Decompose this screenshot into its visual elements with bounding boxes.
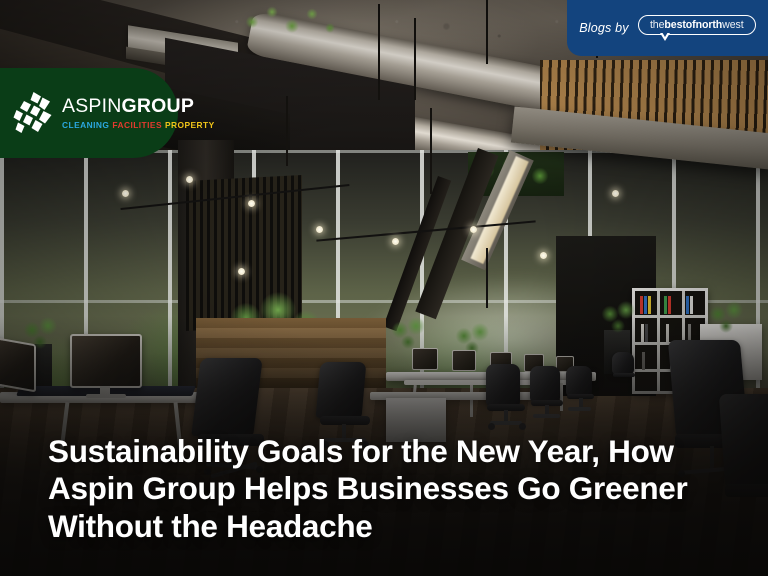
light-track xyxy=(486,248,488,308)
chair-back xyxy=(316,362,367,418)
blog-hero-card: ASPINGROUP CLEANINGFACILITIESPROPERTY Bl… xyxy=(0,0,768,576)
binder xyxy=(645,324,648,342)
hanger-rod xyxy=(286,96,288,166)
binder xyxy=(641,324,644,342)
chair-caster xyxy=(519,423,526,430)
office-chair xyxy=(566,366,598,422)
binder xyxy=(648,296,651,314)
binder xyxy=(640,296,643,314)
tagline-property: PROPERTY xyxy=(165,120,215,130)
binder xyxy=(644,296,647,314)
potted-plant xyxy=(388,316,428,350)
monitor xyxy=(0,336,36,393)
logo-word-west: west xyxy=(722,19,743,31)
hanger-rod xyxy=(486,0,488,64)
hanger-rod xyxy=(430,108,432,194)
potted-plant xyxy=(706,300,746,334)
thebestofnorthwest-text: thebestofnorthwest xyxy=(650,19,744,31)
office-chair xyxy=(486,364,530,438)
hanging-vine xyxy=(236,2,346,48)
aspin-group-logo-badge[interactable]: ASPINGROUP CLEANINGFACILITIESPROPERTY xyxy=(0,68,178,158)
binder xyxy=(686,296,689,314)
monitor xyxy=(452,350,476,371)
monitor xyxy=(70,334,142,388)
pendant-bulb xyxy=(540,252,547,259)
chair-seat xyxy=(613,373,635,377)
binder xyxy=(664,296,667,314)
office-chair xyxy=(722,394,768,544)
brand-wordmark: ASPINGROUP CLEANINGFACILITIESPROPERTY xyxy=(62,97,215,129)
brand-name: ASPINGROUP xyxy=(62,97,215,117)
brand-name-aspin: ASPIN xyxy=(62,95,122,117)
chair-seat xyxy=(725,484,768,497)
desk-leg xyxy=(470,385,473,417)
blogs-by-label: Blogs by xyxy=(579,21,629,35)
logo-word-the: the xyxy=(650,19,664,31)
aspin-shard-mark-icon xyxy=(12,91,54,135)
binder xyxy=(668,296,671,314)
chair-back xyxy=(530,366,560,402)
pendant-bulb xyxy=(316,226,323,233)
pendant-bulb xyxy=(238,268,245,275)
brand-name-group: GROUP xyxy=(122,95,195,117)
thebestofnorthwest-logo[interactable]: thebestofnorthwest xyxy=(638,15,756,41)
monitor xyxy=(412,348,438,370)
pendant-bulb xyxy=(122,190,129,197)
chair-back xyxy=(566,366,592,396)
speech-bubble-tail-inner xyxy=(662,32,668,37)
blogs-by-badge[interactable]: Blogs by thebestofnorthwest xyxy=(567,0,768,56)
chair-base xyxy=(568,407,591,411)
office-chair xyxy=(530,366,568,430)
monitor-base xyxy=(86,394,126,398)
chair-caster xyxy=(488,423,495,430)
pendant-bulb xyxy=(612,190,619,197)
tagline-facilities: FACILITIES xyxy=(112,120,162,130)
binder xyxy=(642,352,645,370)
pendant-bulb xyxy=(470,226,477,233)
brand-tagline: CLEANINGFACILITIESPROPERTY xyxy=(62,121,215,129)
chair-back xyxy=(486,364,520,406)
potted-plant xyxy=(598,300,638,334)
logo-word-bestof: bestof xyxy=(664,19,695,31)
logo-word-north: north xyxy=(696,19,723,31)
pendant-bulb xyxy=(248,200,255,207)
binder xyxy=(666,324,669,342)
speech-bubble-icon: thebestofnorthwest xyxy=(638,15,756,35)
chair-back xyxy=(191,358,263,436)
pendant-bulb xyxy=(392,238,399,245)
tagline-cleaning: CLEANING xyxy=(62,120,109,130)
hanger-rod xyxy=(414,18,416,100)
office-chair xyxy=(612,352,638,392)
article-headline: Sustainability Goals for the New Year, H… xyxy=(48,433,728,546)
chair-base xyxy=(533,414,560,418)
chair-back xyxy=(612,352,634,374)
pendant-bulb xyxy=(186,176,193,183)
hanger-rod xyxy=(378,4,380,100)
binder xyxy=(690,296,693,314)
